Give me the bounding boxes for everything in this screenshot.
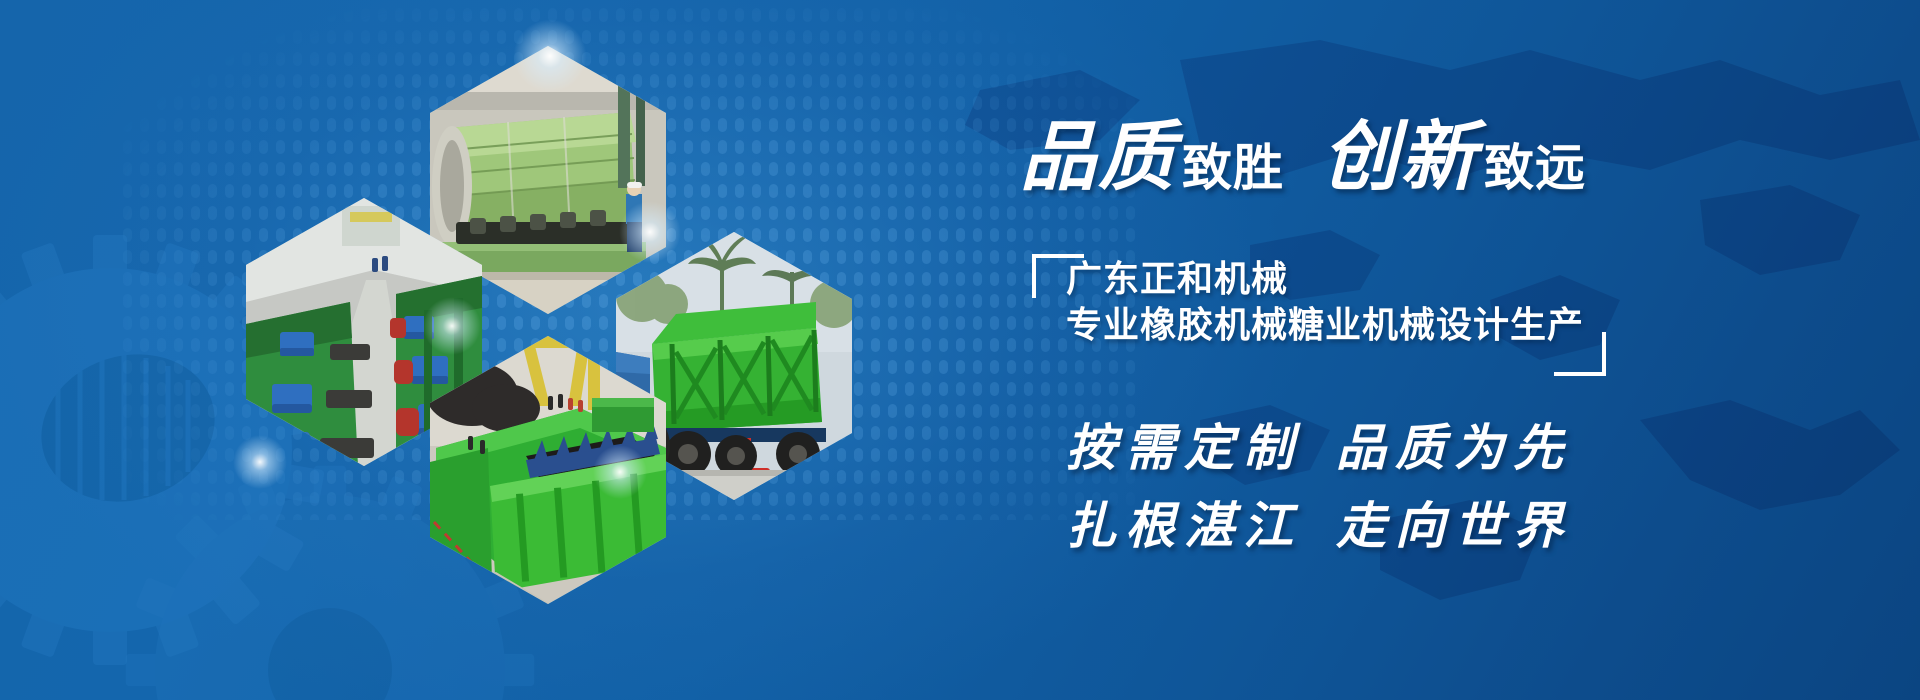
headline-part2-big: 创新 xyxy=(1322,116,1478,200)
promo-banner: 品质致胜创新致远 广东正和机械 专业橡胶机械糖业机械设计生产 按需定制品质为先 … xyxy=(0,0,1920,700)
slogan-line-1: 按需定制品质为先 xyxy=(1066,408,1572,480)
hexagon-photo-cluster xyxy=(236,46,1016,646)
slogan-1-left: 按需定制 xyxy=(1066,420,1302,476)
headline-part1-small: 致胜 xyxy=(1182,140,1284,196)
subtitle-block: 广东正和机械 专业橡胶机械糖业机械设计生产 xyxy=(1032,254,1592,366)
headline: 品质致胜创新致远 xyxy=(1020,120,1586,196)
slogan-line-2: 扎根湛江走向世界 xyxy=(1066,486,1572,558)
subtitle-line-2: 专业橡胶机械糖业机械设计生产 xyxy=(1066,302,1584,348)
banner-text-block: 品质致胜创新致远 广东正和机械 专业橡胶机械糖业机械设计生产 按需定制品质为先 … xyxy=(1020,96,1780,616)
slogan-2-right: 走向世界 xyxy=(1336,498,1572,554)
subtitle-line-1: 广东正和机械 xyxy=(1066,256,1288,302)
headline-part2-small: 致远 xyxy=(1484,140,1586,196)
slogan-1-right: 品质为先 xyxy=(1336,420,1572,476)
headline-part1-big: 品质 xyxy=(1020,116,1176,200)
hex-photo-conveyor xyxy=(430,336,666,604)
slogan-2-left: 扎根湛江 xyxy=(1066,498,1302,554)
